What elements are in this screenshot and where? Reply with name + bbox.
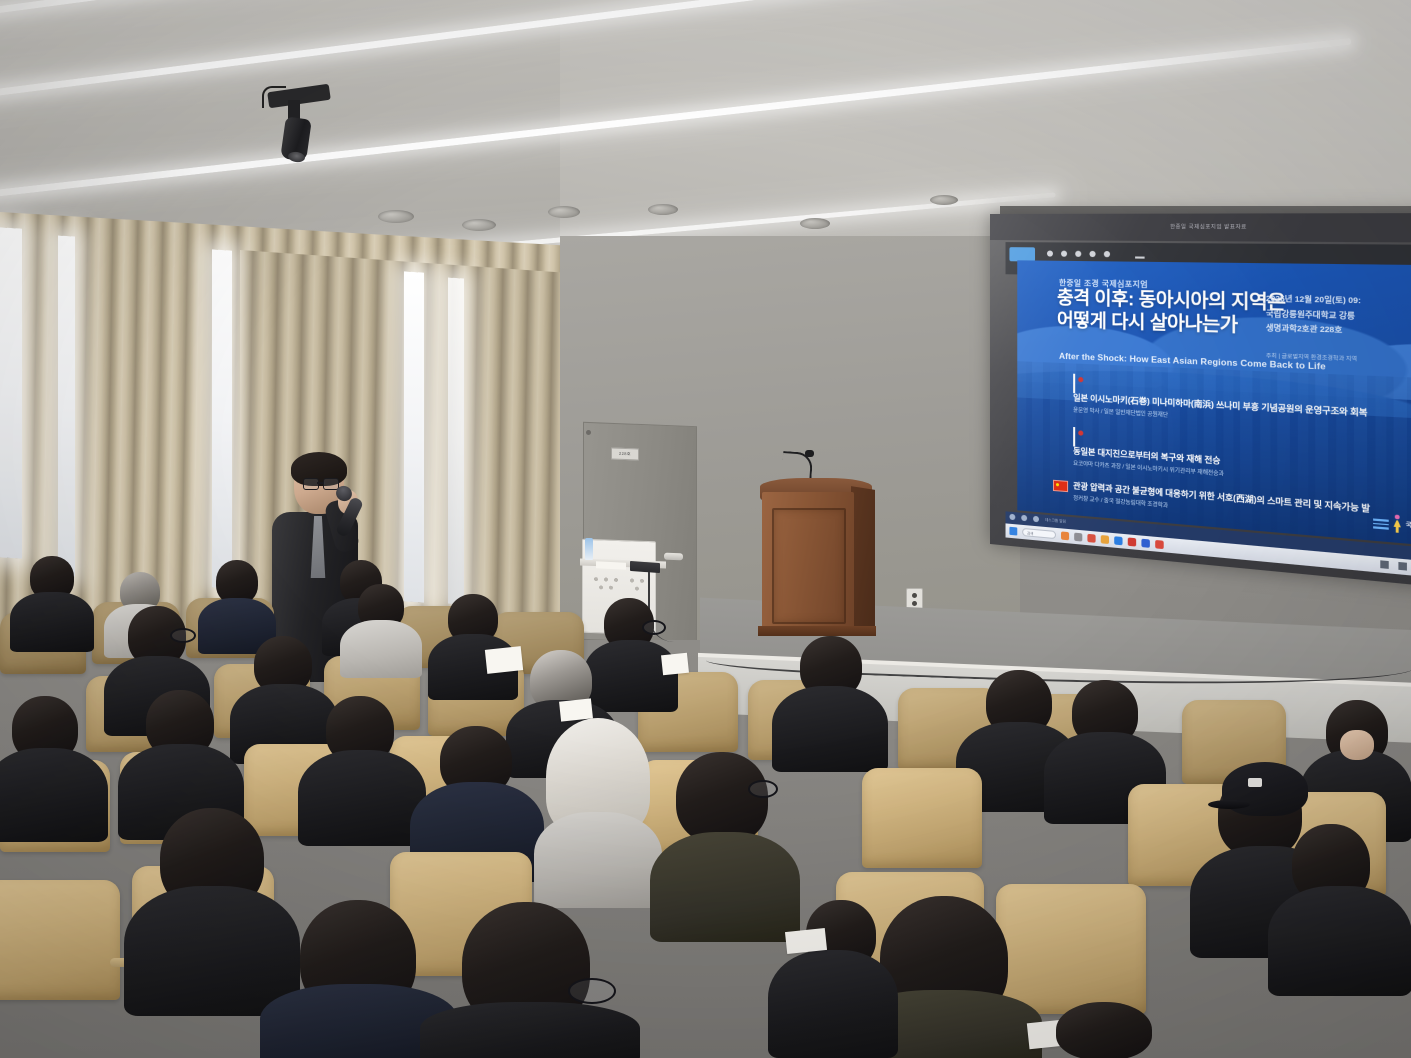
av-cart-perforation [592,575,646,597]
tray-icon[interactable] [1380,560,1388,569]
window-light-strip [448,277,464,604]
ceiling-speaker-icon [378,210,414,223]
audience-head [1056,1002,1152,1058]
tray-label: 데스크톱 알림 [1045,517,1066,524]
tray-dot-icon[interactable] [1009,514,1015,521]
tray-icon[interactable] [1398,562,1407,571]
window-title-bar: 한중일 국제심포지엄 발표자료 [990,213,1411,243]
chrome-toolbar-dots[interactable] [1047,250,1110,257]
ceiling-speaker-icon [930,195,958,205]
audience-body [10,592,94,652]
flag-japan-icon [1073,427,1075,447]
flag-japan-icon [1073,374,1075,394]
auditorium-seat[interactable] [0,880,120,1000]
audience-body [650,832,800,942]
eyeglasses-icon [170,628,196,643]
taskbar-app-icon[interactable] [1074,533,1082,542]
podium-base [758,626,876,636]
eyeglasses-icon [568,978,616,1004]
eyeglasses-icon [642,620,666,635]
ceiling-speaker-icon [548,206,580,218]
taskbar-app-icon[interactable] [1141,539,1149,548]
raised-hand [1340,730,1374,760]
audience-body [0,748,108,842]
window-light-strip [0,227,22,558]
chrome-dot-icon[interactable] [1061,251,1067,257]
chrome-dot-icon[interactable] [1075,251,1081,257]
audience-body [340,620,422,678]
taskbar-app-icon[interactable] [1087,534,1095,543]
taskbar-app-icon[interactable] [1101,535,1109,544]
slide-event-meta: 2025년 12월 20일(토) 09: 국립강릉원주대학교 강릉 생명과학2호… [1266,291,1411,341]
audience-body [768,950,898,1058]
door-room-sign: 228호 [611,448,639,461]
audience-body [772,686,888,772]
taskbar-app-icon[interactable] [1114,536,1122,545]
door-hinge [586,430,591,435]
microphone-capsule-icon [805,450,814,457]
projection-screen: 한중일 국제심포지엄 발표자료 한중일 조경 국제심포지엄 충격 이후: 동아시… [990,213,1411,589]
cap-logo-icon [1248,778,1262,787]
ceiling-speaker-icon [800,218,830,229]
minimize-icon[interactable] [1135,256,1144,258]
audience-body [124,886,300,1016]
podium-front-panel [772,508,846,624]
taskbar-app-icon[interactable] [1061,531,1069,540]
flag-china-icon [1053,480,1068,492]
logo-figure-icon [1391,514,1403,533]
eyeglasses-icon [748,780,778,798]
handout-paper [485,646,523,674]
lecture-hall-photo: 228호 한중일 국제심포지엄 발표자료 한중일 조경 국제심포지엄 충격 이후… [0,0,1411,1058]
logo-text: 국립 [1406,520,1411,530]
tray-dot-icon[interactable] [1033,516,1039,523]
ceiling-speaker-icon [648,204,678,215]
window-light-strip [212,249,232,588]
list-item: 일본 이시노마키(石巻) 미나미하마(南浜) 쓰나미 부흥 기념공원의 운영구조… [1053,373,1411,435]
taskbar-system-tray[interactable] [1380,560,1407,570]
window-light-strip [58,235,75,576]
audience-body [1268,886,1411,996]
water-bottle [585,538,593,560]
handout-paper [785,928,827,954]
eyeglasses-icon [303,478,339,488]
cap-brim-icon [1208,800,1250,809]
auditorium-seat[interactable] [996,884,1146,1014]
search-input[interactable]: 검색 [1022,528,1056,539]
handout-paper [661,653,689,676]
audience-body [584,640,678,712]
audience-head [676,752,768,844]
taskbar-app-icon[interactable] [1128,537,1136,546]
start-button-icon[interactable] [1009,527,1017,536]
chrome-dot-icon[interactable] [1089,251,1095,257]
logo-bars-icon [1373,518,1390,531]
audience-body [420,1002,640,1058]
presentation-slide: 한중일 조경 국제심포지엄 충격 이후: 동아시아의 지역은 어떻게 다시 살아… [1017,260,1411,547]
tray-dot-icon[interactable] [1021,515,1027,522]
chrome-dot-icon[interactable] [1047,250,1053,256]
ceiling-speaker-icon [462,219,496,231]
audience-body [534,812,662,908]
podium-side-panel [851,486,875,636]
chrome-dot-icon[interactable] [1104,251,1110,257]
audience-body [298,750,426,846]
auditorium-seat[interactable] [862,768,982,868]
paper-on-cart [596,561,626,570]
door-handle[interactable] [664,553,683,561]
taskbar-app-icon[interactable] [1155,540,1164,549]
window-light-strip [404,271,424,602]
